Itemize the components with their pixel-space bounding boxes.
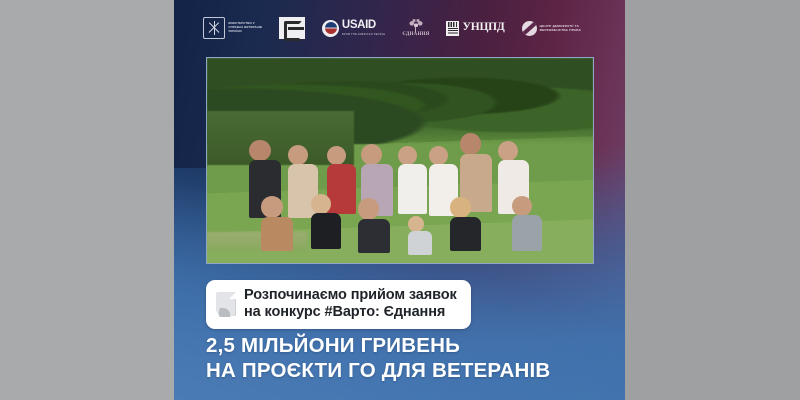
logo-uncpd-label: УНЦПД	[462, 22, 504, 34]
usaid-seal-icon	[322, 20, 339, 37]
photo-person	[261, 196, 283, 250]
partner-logo-bar: МІНІСТЕРСТВО У СПРАВАХ ВЕТЕРАНІВ УКРАЇНИ…	[174, 12, 625, 44]
tree-icon	[408, 19, 424, 32]
photo-person	[398, 146, 417, 214]
logo-uncpd: УНЦПД	[446, 21, 504, 36]
poster-artwork: МІНІСТЕРСТВО У СПРАВАХ ВЕТЕРАНІВ УКРАЇНИ…	[174, 0, 625, 400]
logo-usaid-tagline: FROM THE AMERICAN PEOPLE	[342, 33, 385, 36]
logo-usaid: USAID FROM THE AMERICAN PEOPLE	[322, 20, 385, 37]
logo-ministry-of-veterans-affairs: МІНІСТЕРСТВО У СПРАВАХ ВЕТЕРАНІВ УКРАЇНИ	[203, 17, 262, 39]
photo-person	[288, 145, 308, 218]
photo-person	[358, 198, 380, 252]
logo-ednannia: ЄДНАННЯ	[402, 19, 429, 38]
photo-person	[450, 197, 471, 251]
group-photo	[206, 57, 594, 264]
logo-cedem-label: ЦЕНТР ДЕМОКРАТІЇ ТА ВЕРХОВЕНСТВА ПРАВА	[540, 24, 596, 32]
poster-headline: 2,5 МІЛЬЙОНИ ГРИВЕНЬ НА ПРОЄКТИ ГО ДЛЯ В…	[206, 333, 550, 383]
logo-usaid-label: USAID	[342, 20, 385, 32]
ministry-emblem-icon	[203, 17, 225, 39]
announcement-badge-text: Розпочинаємо прийом заявок на конкурс #В…	[244, 287, 457, 321]
document-page-icon	[216, 292, 236, 316]
logo-ednannia-label: ЄДНАННЯ	[402, 32, 429, 37]
ye-letter-icon	[279, 17, 305, 39]
photo-person	[429, 146, 448, 216]
photo-person	[311, 194, 331, 249]
poster-screenshot: МІНІСТЕРСТВО У СПРАВАХ ВЕТЕРАНІВ УКРАЇНИ…	[0, 0, 800, 400]
circle-slash-icon	[522, 21, 537, 36]
logo-ukraine-ye-mark	[279, 17, 305, 39]
group-photo-image	[207, 58, 593, 263]
logo-cedem: ЦЕНТР ДЕМОКРАТІЇ ТА ВЕРХОВЕНСТВА ПРАВА	[522, 21, 596, 36]
uncpd-block-icon	[446, 21, 459, 36]
announcement-badge: Розпочинаємо прийом заявок на конкурс #В…	[206, 280, 471, 329]
logo-ministry-label: МІНІСТЕРСТВО У СПРАВАХ ВЕТЕРАНІВ УКРАЇНИ	[228, 22, 262, 33]
photo-person	[408, 216, 424, 255]
photo-person	[512, 196, 532, 251]
